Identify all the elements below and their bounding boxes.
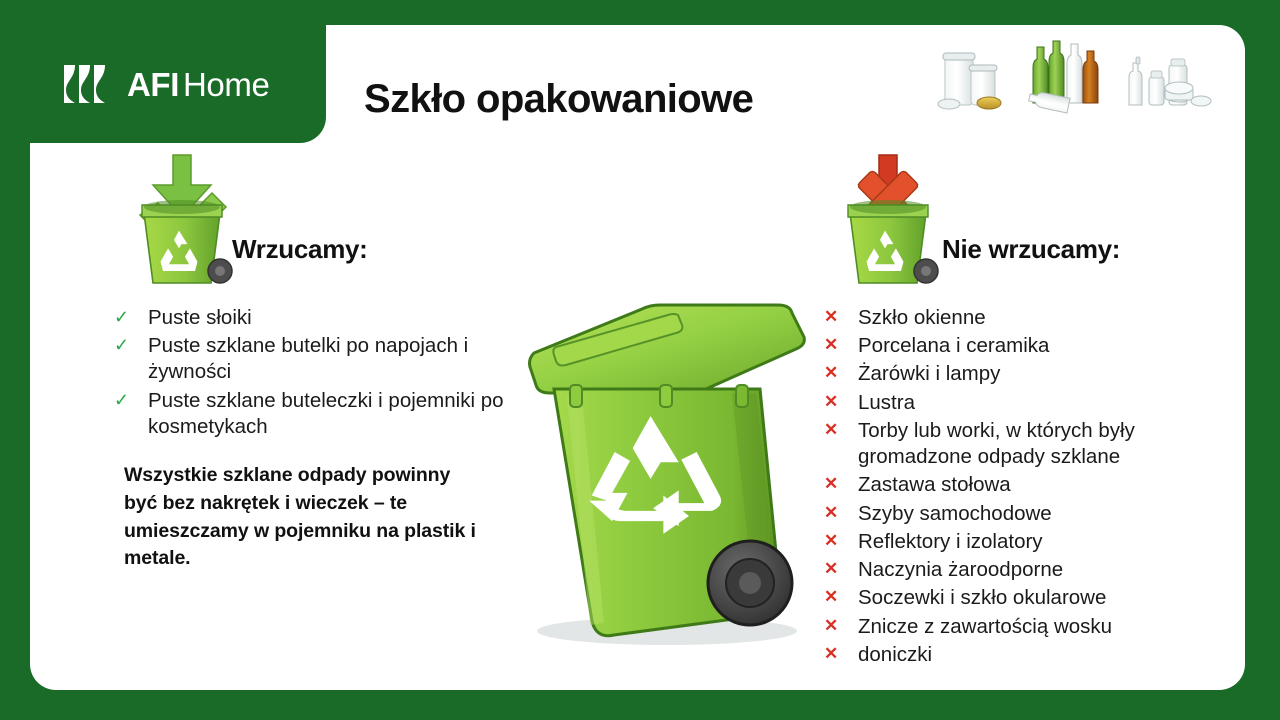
brand-name: AFIHome — [127, 68, 269, 101]
bin-hinge — [660, 385, 672, 407]
brand-logo-panel: AFIHome — [30, 25, 326, 143]
list-item: ✕Reflektory i izolatory — [820, 529, 1240, 555]
accepted-note: Wszystkie szklane odpady powinny być bez… — [124, 462, 476, 573]
list-item-label: Puste słoiki — [148, 305, 540, 331]
accepted-items-list: ✓ Puste słoiki ✓ Puste szklane butelki p… — [110, 305, 540, 440]
list-item: ✓ Puste słoiki — [110, 305, 540, 331]
infographic-poster: AFIHome Szkło opakowaniowe — [0, 0, 1280, 720]
list-item-label: Szyby samochodowe — [858, 501, 1240, 527]
bin-hinge — [570, 385, 582, 407]
list-item-label: Znicze z zawartością wosku — [858, 614, 1240, 640]
list-item-label: Reflektory i izolatory — [858, 529, 1240, 555]
list-item: ✓ Puste szklane butelki po napojach i ży… — [110, 333, 540, 385]
list-item-label: Lustra — [858, 390, 1240, 416]
accepted-items-column: Wrzucamy: ✓ Puste słoiki ✓ Puste szklane… — [110, 143, 540, 573]
list-item: ✕Lustra — [820, 390, 1240, 416]
rejected-items-list: ✕Szkło okienne ✕Porcelana i ceramika ✕Ża… — [820, 305, 1240, 668]
glass-packaging-illustration — [927, 33, 1227, 129]
list-item: ✕Soczewki i szkło okularowe — [820, 585, 1240, 611]
list-item-label: Torby lub worki, w których były gromadzo… — [858, 418, 1240, 470]
content-card: AFIHome Szkło opakowaniowe — [30, 25, 1245, 690]
glass-jars-group — [938, 53, 1001, 109]
accepted-column-header: Wrzucamy: — [110, 143, 540, 293]
list-item: ✕Szyby samochodowe — [820, 501, 1240, 527]
check-icon: ✓ — [110, 333, 148, 357]
bin-with-down-arrow-and-check-icon — [124, 143, 240, 291]
list-item: ✕Szkło okienne — [820, 305, 1240, 331]
list-item-label: Żarówki i lampy — [858, 361, 1240, 387]
page-title: Szkło opakowaniowe — [364, 77, 753, 122]
list-item-label: Soczewki i szkło okularowe — [858, 585, 1240, 611]
rejected-column-title: Nie wrzucamy: — [942, 234, 1120, 265]
recycling-bin-illustration — [492, 293, 842, 653]
list-item: ✕doniczki — [820, 642, 1240, 668]
list-item-label: doniczki — [858, 642, 1240, 668]
list-item-label: Puste szklane butelki po napojach i żywn… — [148, 333, 540, 385]
check-icon: ✓ — [110, 305, 148, 329]
list-item: ✕Żarówki i lampy — [820, 361, 1240, 387]
rejected-items-column: Nie wrzucamy: ✕Szkło okienne ✕Porcelana … — [820, 143, 1240, 670]
bin-with-down-arrow-and-cross-icon — [830, 143, 946, 291]
check-icon: ✓ — [110, 388, 148, 412]
list-item: ✕Torby lub worki, w których były gromadz… — [820, 418, 1240, 470]
brand-name-light: Home — [183, 66, 269, 103]
cosmetic-glass-group — [1129, 57, 1211, 106]
rejected-column-header: Nie wrzucamy: — [820, 143, 1240, 293]
list-item-label: Puste szklane buteleczki i pojemniki po … — [148, 388, 540, 440]
list-item: ✕Zastawa stołowa — [820, 472, 1240, 498]
list-item: ✕Znicze z zawartością wosku — [820, 614, 1240, 640]
list-item-label: Porcelana i ceramika — [858, 333, 1240, 359]
list-item-label: Naczynia żaroodporne — [858, 557, 1240, 583]
bin-wheel — [708, 541, 792, 625]
list-item: ✓ Puste szklane buteleczki i pojemniki p… — [110, 388, 540, 440]
list-item: ✕Porcelana i ceramika — [820, 333, 1240, 359]
list-item-label: Zastawa stołowa — [858, 472, 1240, 498]
accepted-column-title: Wrzucamy: — [232, 234, 368, 265]
glass-bottles-group — [1028, 41, 1098, 113]
bin-hinge — [736, 385, 748, 407]
afi-wave-mark-icon — [62, 63, 118, 105]
list-item: ✕Naczynia żaroodporne — [820, 557, 1240, 583]
brand-name-bold: AFI — [127, 66, 179, 103]
list-item-label: Szkło okienne — [858, 305, 1240, 331]
